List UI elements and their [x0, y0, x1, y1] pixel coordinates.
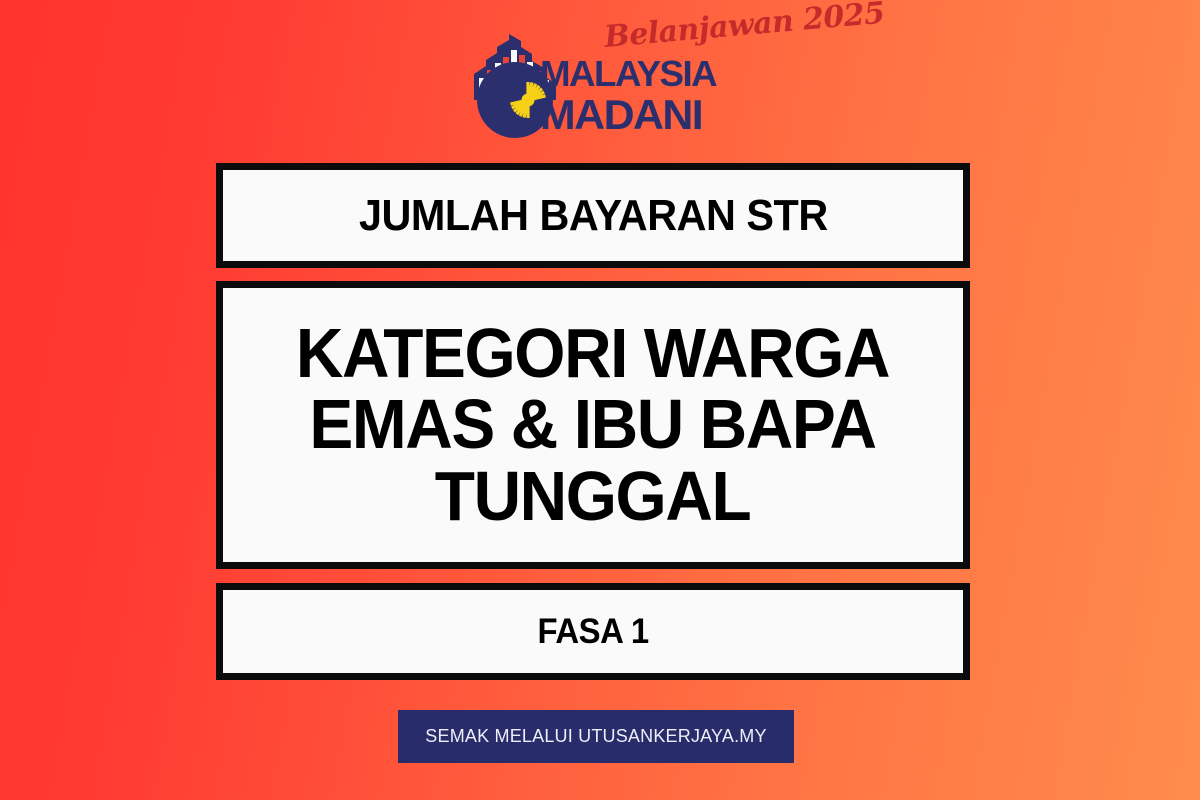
- wordmark-malaysia: MALAYSIA: [540, 56, 716, 92]
- phase-panel: FASA 1: [216, 583, 970, 680]
- wordmark-madani: MADANI: [540, 94, 702, 136]
- logo-wordmark: Belanjawan 2025 MALAYSIA MADANI: [540, 18, 740, 140]
- payment-title-text: JUMLAH BAYARAN STR: [359, 194, 828, 238]
- category-panel: KATEGORI WARGA EMAS & IBU BAPA TUNGGAL: [216, 281, 970, 569]
- category-text: KATEGORI WARGA EMAS & IBU BAPA TUNGGAL: [289, 318, 897, 532]
- poster-canvas: Belanjawan 2025 MALAYSIA MADANI JUMLAH B…: [0, 0, 1200, 800]
- category-line-2: EMAS & IBU BAPA: [296, 389, 889, 460]
- category-line-3: TUNGGAL: [296, 461, 889, 532]
- category-line-1: KATEGORI WARGA: [296, 318, 889, 389]
- phase-text: FASA 1: [537, 614, 648, 649]
- budget-year-tagline: Belanjawan 2025: [603, 0, 886, 55]
- malaysia-madani-logo: Belanjawan 2025 MALAYSIA MADANI: [466, 18, 736, 138]
- payment-title-panel: JUMLAH BAYARAN STR: [216, 163, 970, 268]
- check-link-label: SEMAK MELALUI UTUSANKERJAYA.MY: [425, 726, 766, 747]
- check-link-banner[interactable]: SEMAK MELALUI UTUSANKERJAYA.MY: [398, 710, 794, 763]
